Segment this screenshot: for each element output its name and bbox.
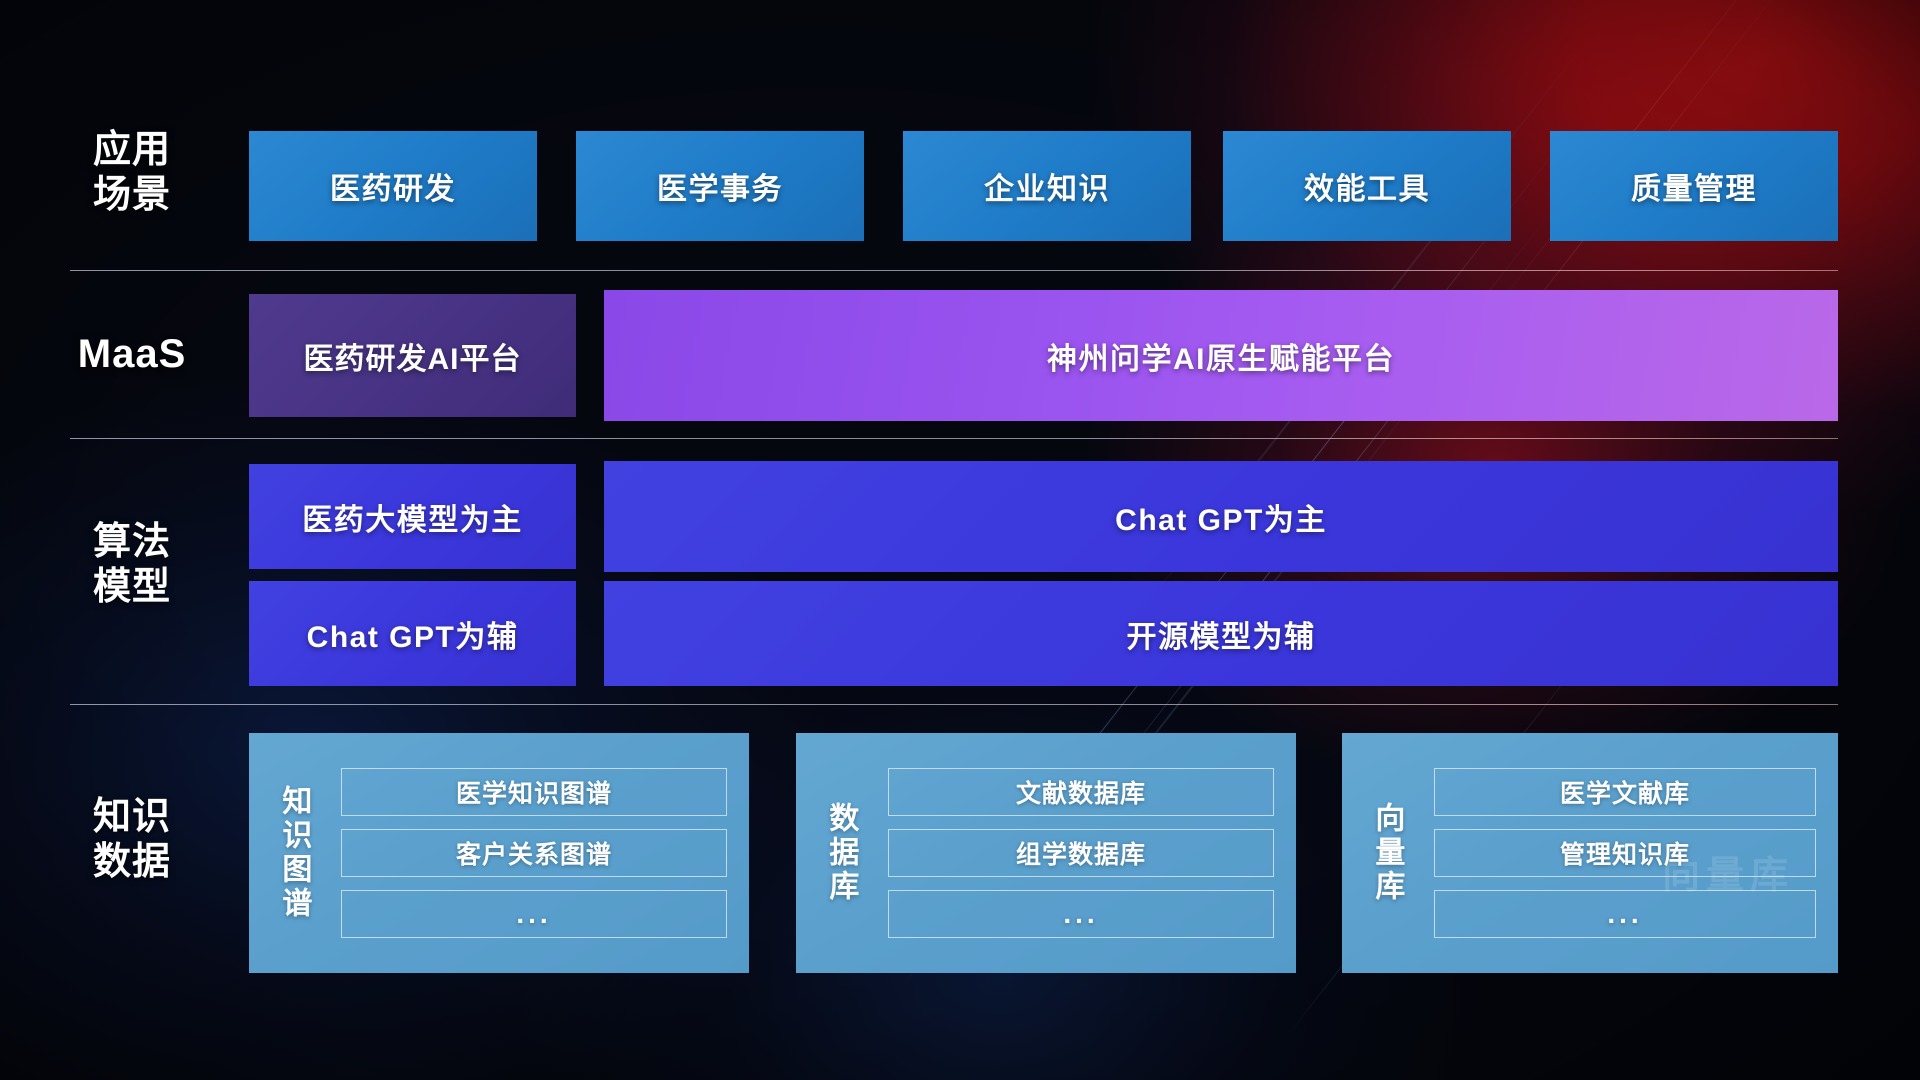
algo-box-medical-large-model[interactable]: 医药大模型为主: [249, 464, 576, 569]
knowledge-panel-database-title: 数据库: [796, 802, 884, 904]
app-box-1[interactable]: 医学事务: [576, 131, 864, 241]
app-box-4-label: 质量管理: [1631, 164, 1757, 208]
app-box-4[interactable]: 质量管理: [1550, 131, 1838, 241]
algo-box-opensource-secondary-label: 开源模型为辅: [1127, 612, 1316, 656]
app-box-2-label: 企业知识: [984, 164, 1110, 208]
app-box-3[interactable]: 效能工具: [1223, 131, 1511, 241]
algo-box-chatgpt-primary[interactable]: Chat GPT为主: [604, 461, 1838, 572]
app-box-0[interactable]: 医药研发: [249, 131, 537, 241]
knowledge-panel-database[interactable]: 数据库 文献数据库 组学数据库 ...: [796, 733, 1296, 973]
knowledge-item[interactable]: 医学文献库: [1434, 768, 1816, 816]
algo-box-chatgpt-secondary[interactable]: Chat GPT为辅: [249, 581, 576, 686]
row-label-maas: MaaS: [58, 331, 206, 378]
divider-after-maas: [70, 438, 1838, 439]
knowledge-item[interactable]: 文献数据库: [888, 768, 1274, 816]
maas-box-medical-ai-platform-label: 医药研发AI平台: [304, 334, 522, 378]
algo-box-opensource-secondary[interactable]: 开源模型为辅: [604, 581, 1838, 686]
knowledge-item-more[interactable]: ...: [1434, 890, 1816, 938]
knowledge-item-more[interactable]: ...: [888, 890, 1274, 938]
maas-box-medical-ai-platform[interactable]: 医药研发AI平台: [249, 294, 576, 417]
knowledge-panel-knowledge-graph[interactable]: 知识图谱 医学知识图谱 客户关系图谱 ...: [249, 733, 749, 973]
maas-box-shenzhou-ai-platform-label: 神州问学AI原生赋能平台: [1047, 334, 1395, 378]
divider-after-application-scenario: [70, 270, 1838, 271]
row-label-knowledge-data: 知识 数据: [58, 795, 206, 885]
knowledge-panel-vector-store[interactable]: 向量库 医学文献库 管理知识库 ... 向量库: [1342, 733, 1838, 973]
diagram-canvas: 应用 场景 医药研发 医学事务 企业知识 效能工具 质量管理 MaaS 医药研发…: [0, 0, 1920, 1080]
app-box-3-label: 效能工具: [1304, 164, 1430, 208]
knowledge-item[interactable]: 客户关系图谱: [341, 829, 727, 877]
app-box-1-label: 医学事务: [657, 164, 783, 208]
knowledge-panel-vector-store-items: 医学文献库 管理知识库 ...: [1430, 752, 1838, 954]
knowledge-panel-database-items: 文献数据库 组学数据库 ...: [884, 752, 1296, 954]
algo-box-chatgpt-primary-label: Chat GPT为主: [1115, 495, 1327, 539]
knowledge-panel-knowledge-graph-items: 医学知识图谱 客户关系图谱 ...: [337, 752, 749, 954]
row-label-algorithm-model: 算法 模型: [58, 520, 206, 610]
knowledge-panel-knowledge-graph-title: 知识图谱: [249, 785, 337, 921]
maas-box-shenzhou-ai-platform[interactable]: 神州问学AI原生赋能平台: [604, 290, 1838, 421]
algo-box-medical-large-model-label: 医药大模型为主: [302, 495, 523, 539]
knowledge-item[interactable]: 医学知识图谱: [341, 768, 727, 816]
knowledge-item-more[interactable]: ...: [341, 890, 727, 938]
app-box-0-label: 医药研发: [330, 164, 456, 208]
knowledge-item[interactable]: 管理知识库: [1434, 829, 1816, 877]
divider-after-algorithm-model: [70, 704, 1838, 705]
row-label-application-scenario: 应用 场景: [58, 128, 206, 218]
knowledge-panel-vector-store-title: 向量库: [1342, 802, 1430, 904]
app-box-2[interactable]: 企业知识: [903, 131, 1191, 241]
knowledge-item[interactable]: 组学数据库: [888, 829, 1274, 877]
algo-box-chatgpt-secondary-label: Chat GPT为辅: [307, 612, 519, 656]
